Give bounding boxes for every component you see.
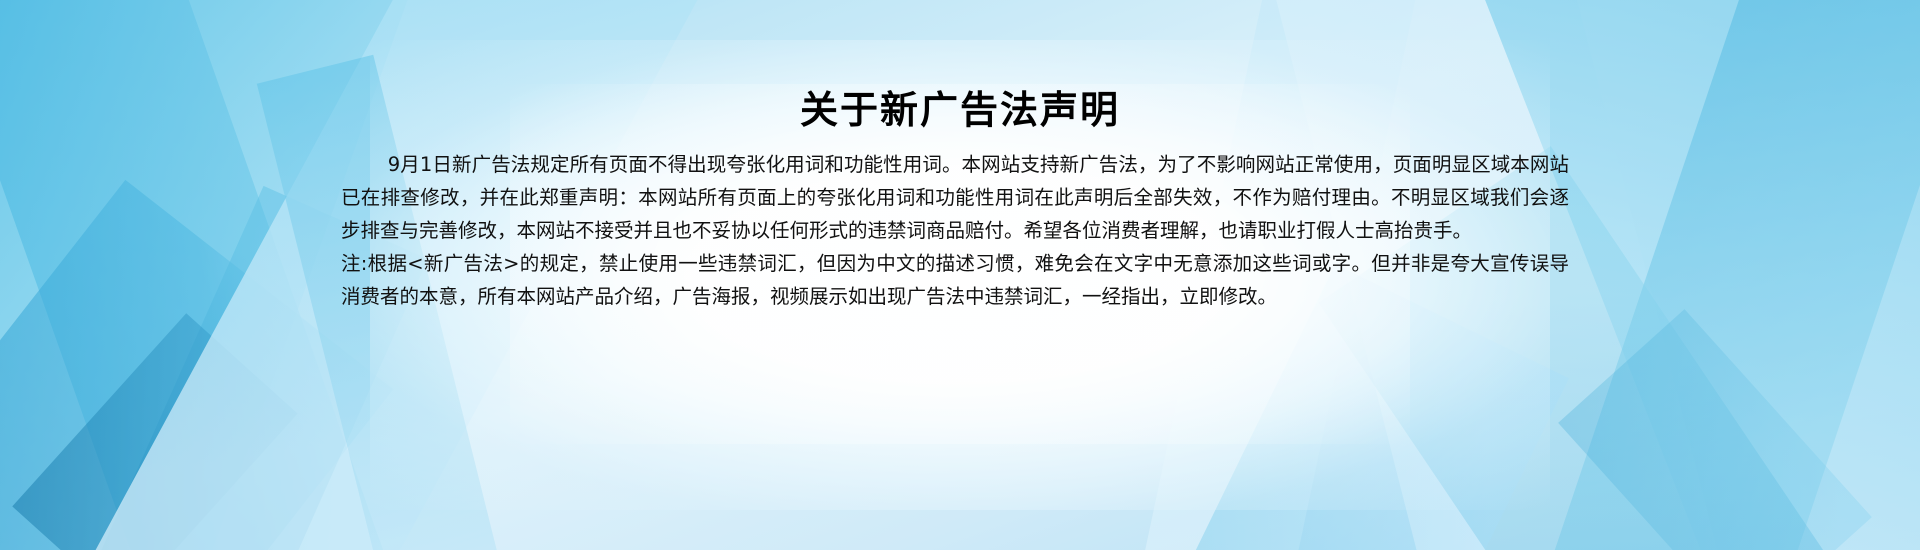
background-shape-right-6 [1558,309,1872,550]
statement-body: 9月1日新广告法规定所有页面不得出现夸张化用词和功能性用词。本网站支持新广告法，… [341,148,1569,313]
background-shape-left-5 [12,313,297,550]
statement-paragraph-2: 注:根据<新广告法>的规定，禁止使用一些违禁词汇，但因为中文的描述习惯，难免会在… [341,247,1569,313]
page-title: 关于新广告法声明 [335,88,1585,134]
banner-content: 关于新广告法声明 9月1日新广告法规定所有页面不得出现夸张化用词和功能性用词。本… [335,0,1585,550]
statement-paragraph-1: 9月1日新广告法规定所有页面不得出现夸张化用词和功能性用词。本网站支持新广告法，… [341,148,1569,247]
advertising-law-banner: 关于新广告法声明 9月1日新广告法规定所有页面不得出现夸张化用词和功能性用词。本… [0,0,1920,550]
